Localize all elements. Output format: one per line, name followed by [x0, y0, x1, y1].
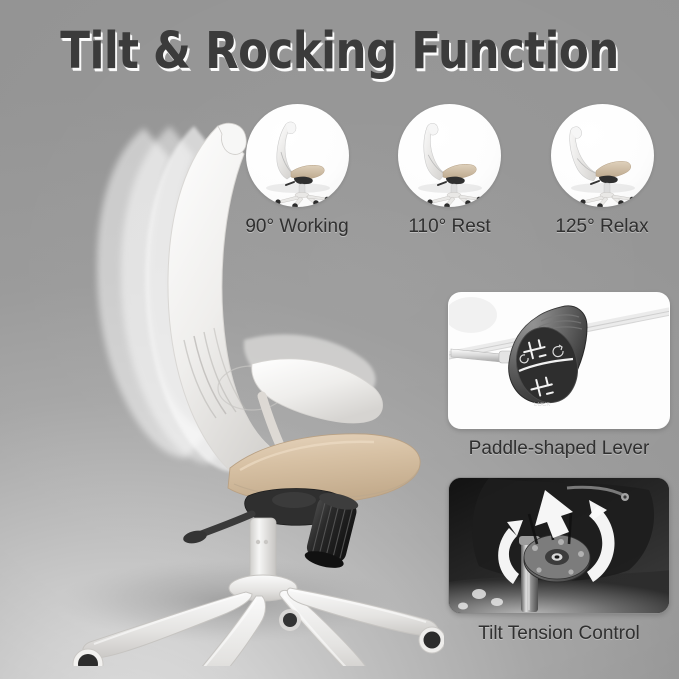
paddle-lever-icon: LOCK: [449, 293, 670, 429]
tilt-tension-image: [448, 477, 670, 614]
angle-badge-label: 125° Relax: [555, 216, 648, 238]
mini-chair-110: [398, 104, 501, 207]
tilt-tension-feature[interactable]: Tilt Tension Control: [448, 477, 670, 645]
svg-text:LOCK: LOCK: [534, 402, 550, 408]
paddle-lever-image: LOCK: [448, 292, 670, 429]
tilt-tension-caption: Tilt Tension Control: [448, 623, 670, 645]
angle-badge-label: 90° Working: [245, 216, 348, 238]
paddle-lever-caption: Paddle-shaped Lever: [448, 438, 670, 460]
office-chair-relax-icon: [551, 104, 654, 207]
paddle-lever-feature[interactable]: LOCK Paddle-shaped Lever: [448, 292, 670, 460]
angle-badge-label: 110° Rest: [408, 216, 490, 238]
tension-knob-icon: [449, 478, 670, 614]
angle-badge-110[interactable]: 110° Rest: [381, 104, 519, 238]
angle-badge-90[interactable]: 90° Working: [228, 104, 366, 238]
office-chair-upright-icon: [246, 104, 349, 207]
angle-badge-125[interactable]: 125° Relax: [533, 104, 671, 238]
mini-chair-125: [551, 104, 654, 207]
office-chair-reclined-icon: [398, 104, 501, 207]
mini-chair-90: [246, 104, 349, 207]
angle-badge-row: 90° Working: [228, 104, 671, 238]
page-title: Tilt & Rocking Function: [17, 26, 662, 77]
